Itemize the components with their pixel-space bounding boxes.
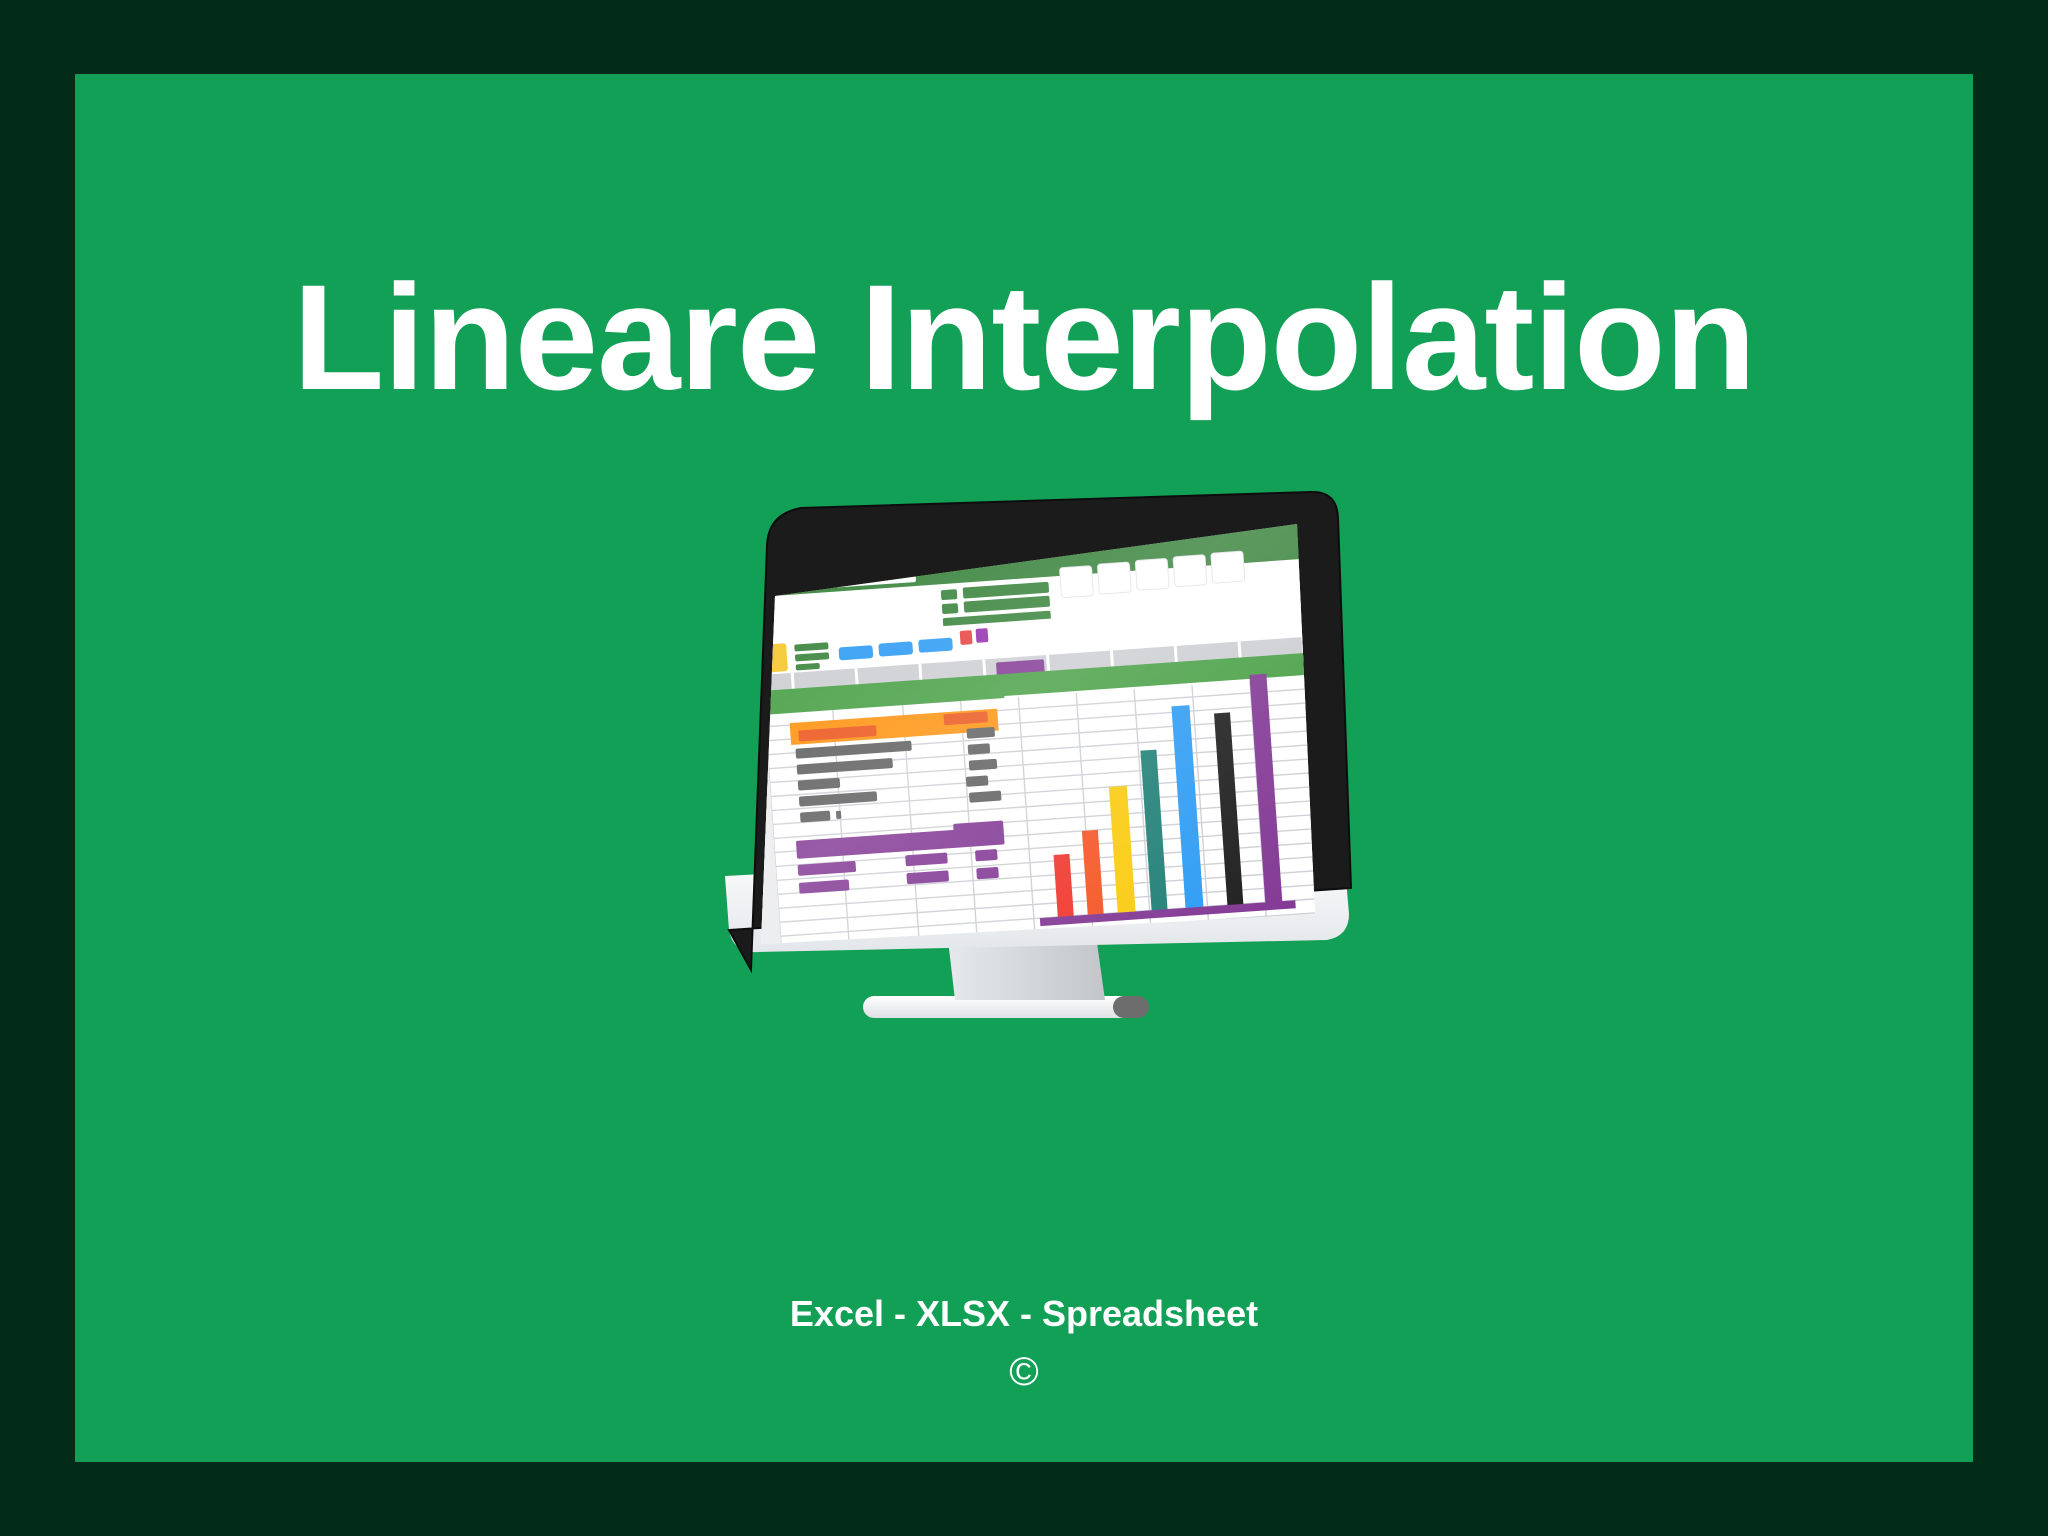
copyright-icon: © <box>75 1352 1973 1392</box>
monitor-illustration <box>715 484 1355 1044</box>
slide-panel: Lineare Interpolation <box>75 74 1973 1462</box>
slide-root: Lineare Interpolation <box>0 0 2048 1536</box>
footer: Excel - XLSX - Spreadsheet © <box>75 1296 1973 1392</box>
page-title: Lineare Interpolation <box>75 256 1973 418</box>
monitor-svg <box>715 484 1355 1044</box>
footer-subtitle: Excel - XLSX - Spreadsheet <box>75 1296 1973 1332</box>
sheet-corner-handles-left <box>754 950 783 964</box>
